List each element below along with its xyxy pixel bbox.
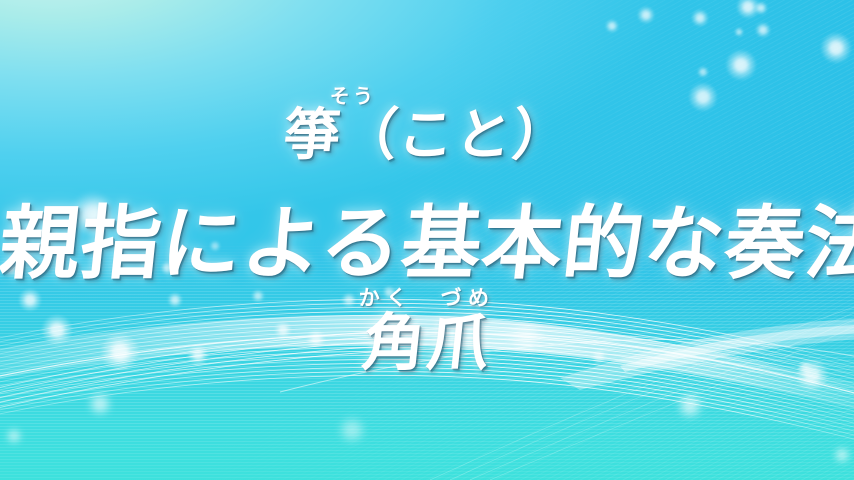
title-kakuzume: 角爪 xyxy=(359,312,494,374)
title-card-slide: そう 箏（こと） 親指による基本的な奏法 かく づめ 角爪 xyxy=(0,0,854,480)
title-main-technique: 親指による基本的な奏法 xyxy=(0,204,854,284)
title-koto: 箏（こと） xyxy=(281,108,572,164)
title-line-main: 親指による基本的な奏法 xyxy=(0,204,854,284)
title-text-layer: そう 箏（こと） 親指による基本的な奏法 かく づめ 角爪 xyxy=(0,0,854,480)
title-line-kakuzume: かく づめ 角爪 xyxy=(0,288,854,374)
title-line-koto: そう 箏（こと） xyxy=(0,86,854,164)
